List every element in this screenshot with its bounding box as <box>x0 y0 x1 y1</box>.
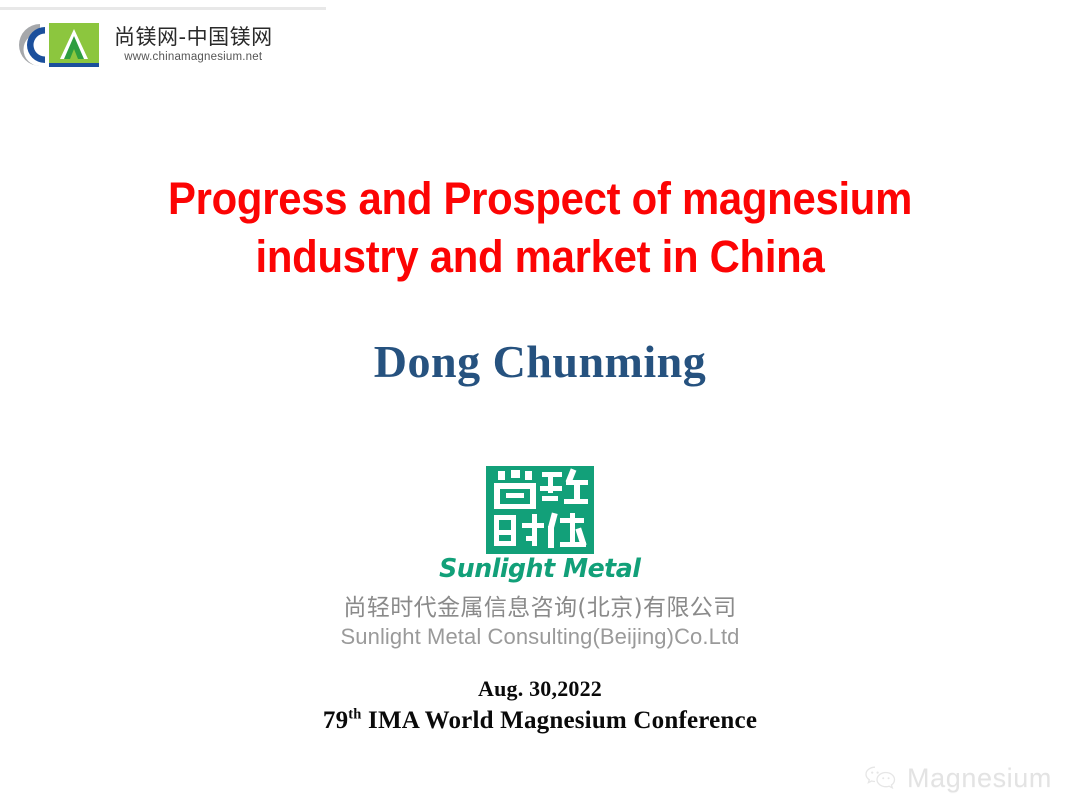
title-line-1: Progress and Prospect of magnesium <box>38 170 1042 228</box>
site-header: 尚镁网-中国镁网 www.chinamagnesium.net <box>0 10 330 80</box>
site-name-block: 尚镁网-中国镁网 www.chinamagnesium.net <box>114 27 273 64</box>
site-name-chinese: 尚镁网-中国镁网 <box>114 27 273 48</box>
page-title: Progress and Prospect of magnesium indus… <box>0 170 1080 286</box>
sponsor-logo: Sunlight Metal <box>0 466 1080 583</box>
presentation-date: Aug. 30,2022 <box>0 674 1080 704</box>
sponsor-wordmark: Sunlight Metal <box>439 555 640 583</box>
wechat-icon <box>864 764 898 792</box>
site-url: www.chinamagnesium.net <box>114 52 273 64</box>
sponsor-company-block: 尚轻时代金属信息咨询(北京)有限公司 Sunlight Metal Consul… <box>0 594 1080 651</box>
cm-china-magnesium-logo-icon <box>14 20 100 70</box>
wechat-watermark: Magnesium <box>864 764 1052 792</box>
sunlight-metal-logo-icon <box>478 466 602 554</box>
wechat-watermark-label: Magnesium <box>907 764 1052 792</box>
conference-number: 79 <box>323 707 348 734</box>
company-name-chinese: 尚轻时代金属信息咨询(北京)有限公司 <box>0 594 1080 623</box>
conference-ordinal-suffix: th <box>348 707 361 723</box>
title-line-2: industry and market in China <box>38 228 1042 286</box>
company-name-english: Sunlight Metal Consulting(Beijing)Co.Ltd <box>0 623 1080 651</box>
conference-title: IMA World Magnesium Conference <box>368 707 757 734</box>
slide-footer: Aug. 30,2022 79th IMA World Magnesium Co… <box>0 674 1080 737</box>
author-name: Dong Chunming <box>0 333 1080 391</box>
conference-name: 79th IMA World Magnesium Conference <box>0 704 1080 737</box>
